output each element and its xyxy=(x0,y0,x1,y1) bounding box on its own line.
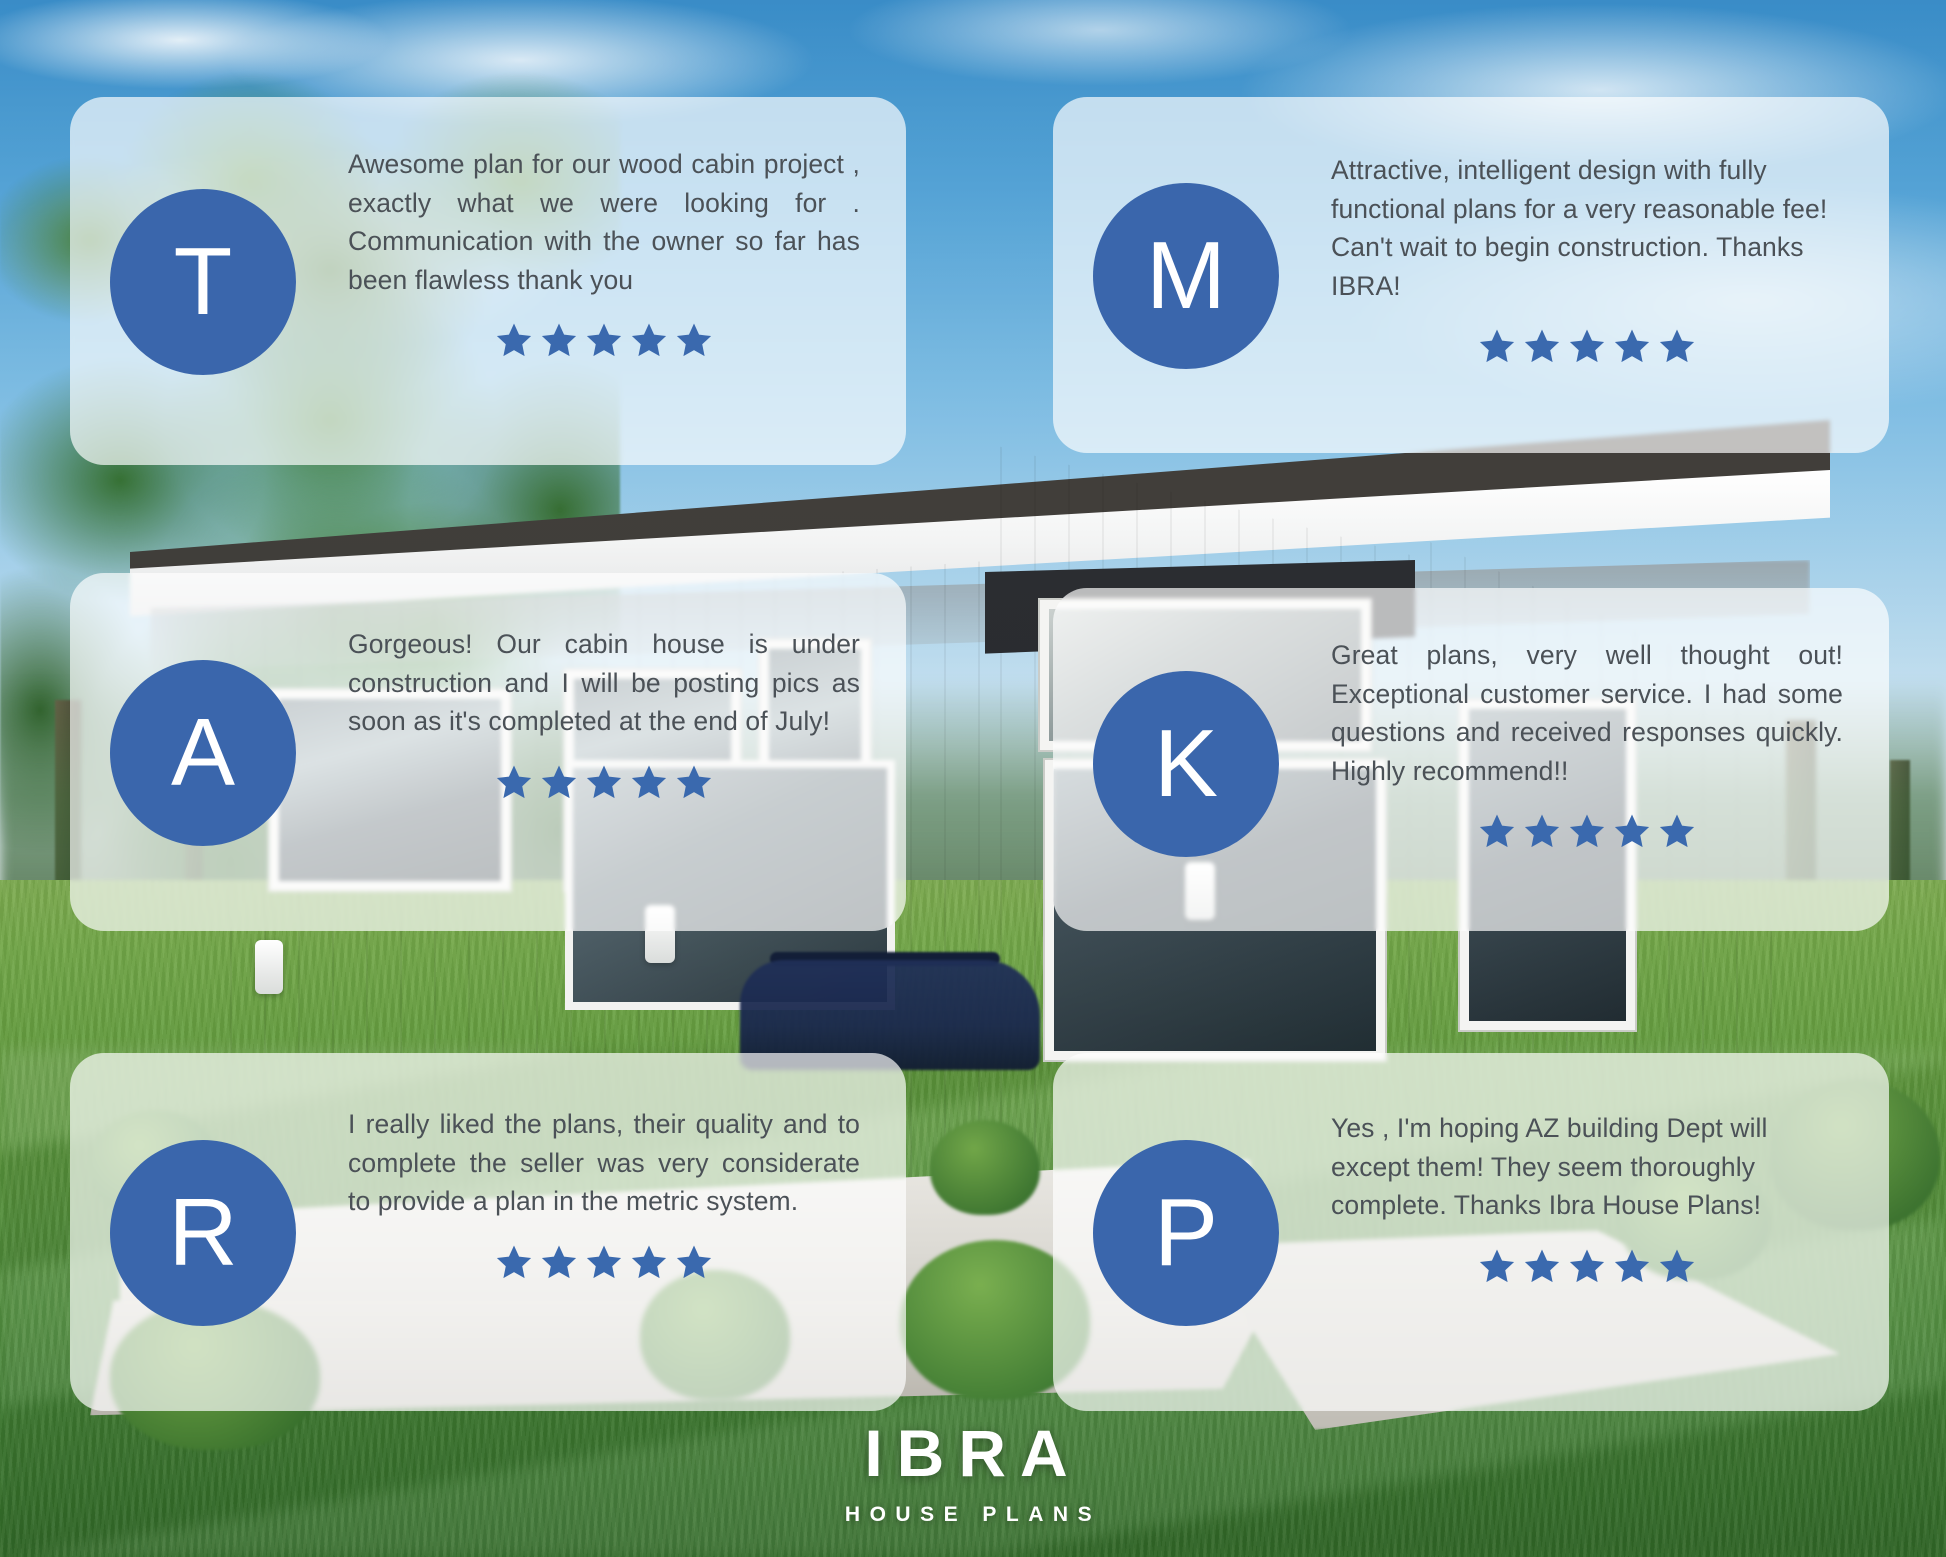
brand-name: IBRA xyxy=(0,1420,1946,1486)
star-icon xyxy=(1613,327,1651,365)
star-icon xyxy=(1568,327,1606,365)
testimonial-quote: Great plans, very well thought out! Exce… xyxy=(1331,636,1843,790)
testimonial-card[interactable]: R I really liked the plans, their qualit… xyxy=(70,1053,906,1411)
star-icon xyxy=(1613,1247,1651,1285)
star-icon xyxy=(1658,812,1696,850)
testimonial-quote: Gorgeous! Our cabin house is under const… xyxy=(348,625,860,741)
testimonial-quote: I really liked the plans, their quality … xyxy=(348,1105,860,1221)
testimonial-body: Attractive, intelligent design with full… xyxy=(1331,151,1843,365)
star-icon xyxy=(585,763,623,801)
star-icon xyxy=(630,321,668,359)
star-icon xyxy=(675,1243,713,1281)
star-icon xyxy=(630,1243,668,1281)
star-icon xyxy=(1478,327,1516,365)
testimonial-quote: Attractive, intelligent design with full… xyxy=(1331,151,1843,305)
testimonial-body: Awesome plan for our wood cabin project … xyxy=(348,145,860,359)
avatar: K xyxy=(1093,671,1279,857)
star-icon xyxy=(1568,1247,1606,1285)
avatar: T xyxy=(110,189,296,375)
star-icon xyxy=(585,321,623,359)
testimonial-card[interactable]: P Yes , I'm hoping AZ building Dept will… xyxy=(1053,1053,1889,1411)
avatar-initial: A xyxy=(171,705,235,801)
avatar-initial: T xyxy=(174,234,233,330)
testimonial-collage: T Awesome plan for our wood cabin projec… xyxy=(0,0,1946,1557)
star-icon xyxy=(1478,1247,1516,1285)
star-icon xyxy=(585,1243,623,1281)
star-icon xyxy=(1658,327,1696,365)
avatar: R xyxy=(110,1140,296,1326)
avatar-initial: P xyxy=(1154,1185,1218,1281)
testimonial-body: I really liked the plans, their quality … xyxy=(348,1105,860,1281)
avatar: A xyxy=(110,660,296,846)
testimonial-card[interactable]: M Attractive, intelligent design with fu… xyxy=(1053,97,1889,453)
testimonial-body: Gorgeous! Our cabin house is under const… xyxy=(348,625,860,801)
star-icon xyxy=(540,763,578,801)
star-icon xyxy=(630,763,668,801)
star-icon xyxy=(1478,812,1516,850)
star-icon xyxy=(540,1243,578,1281)
star-icon xyxy=(495,321,533,359)
star-rating xyxy=(348,321,860,359)
testimonial-card[interactable]: T Awesome plan for our wood cabin projec… xyxy=(70,97,906,465)
avatar-initial: R xyxy=(168,1185,237,1281)
avatar-initial: K xyxy=(1154,716,1218,812)
star-icon xyxy=(1568,812,1606,850)
testimonial-body: Yes , I'm hoping AZ building Dept will e… xyxy=(1331,1109,1843,1285)
star-icon xyxy=(540,321,578,359)
star-icon xyxy=(1613,812,1651,850)
testimonial-card[interactable]: K Great plans, very well thought out! Ex… xyxy=(1053,588,1889,931)
star-rating xyxy=(1331,812,1843,850)
star-rating xyxy=(1331,1247,1843,1285)
testimonial-quote: Yes , I'm hoping AZ building Dept will e… xyxy=(1331,1109,1843,1225)
star-rating xyxy=(348,763,860,801)
testimonial-card[interactable]: A Gorgeous! Our cabin house is under con… xyxy=(70,573,906,931)
brand-tagline: HOUSE PLANS xyxy=(0,1504,1946,1525)
star-rating xyxy=(348,1243,860,1281)
avatar: P xyxy=(1093,1140,1279,1326)
star-icon xyxy=(495,1243,533,1281)
star-icon xyxy=(1523,1247,1561,1285)
star-rating xyxy=(1331,327,1843,365)
testimonial-body: Great plans, very well thought out! Exce… xyxy=(1331,636,1843,850)
star-icon xyxy=(675,321,713,359)
star-icon xyxy=(1658,1247,1696,1285)
star-icon xyxy=(495,763,533,801)
testimonial-quote: Awesome plan for our wood cabin project … xyxy=(348,145,860,299)
testimonial-grid: T Awesome plan for our wood cabin projec… xyxy=(0,0,1946,1557)
star-icon xyxy=(675,763,713,801)
avatar-initial: M xyxy=(1146,228,1226,324)
star-icon xyxy=(1523,327,1561,365)
brand-logo: IBRA HOUSE PLANS xyxy=(0,1420,1946,1525)
star-icon xyxy=(1523,812,1561,850)
avatar: M xyxy=(1093,183,1279,369)
